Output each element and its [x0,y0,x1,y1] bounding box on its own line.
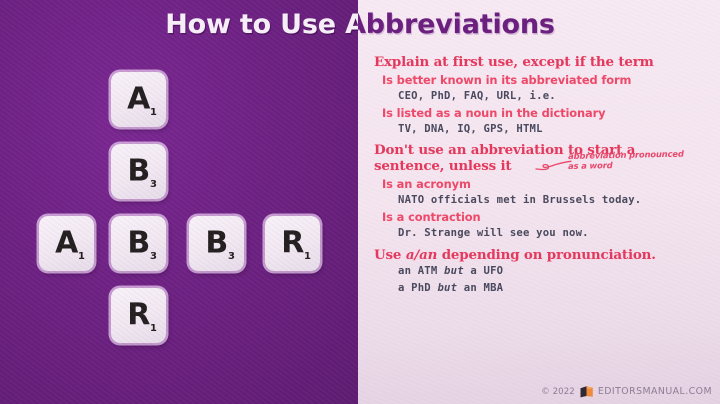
rule-heading: Use a/an depending on pronunciation. [374,247,714,264]
rule-example: CEO, PhD, FAQ, URL, i.e. [398,89,714,104]
rule-example: a PhD but an MBA [398,281,714,296]
infographic-root: A 1 B 3 A 1 B 3 B 3 R 1 [0,0,720,404]
tile-letter: A [111,84,166,114]
tile-letter: A [39,228,94,258]
example-post: an MBA [457,282,503,294]
rule-block: Don't use an abbreviation to start a sen… [368,142,714,241]
tile-points: 1 [150,324,157,334]
rule-subitem: Is listed as a noun in the dictionary [382,106,714,121]
rule-heading: Explain at first use, except if the term [374,54,714,71]
rule-heading-post: depending on pronunciation. [437,247,656,263]
right-content-panel: Explain at first use, except if the term… [358,0,720,404]
rule-block: Explain at first use, except if the term… [368,54,714,137]
rule-example: Dr. Strange will see you now. [398,226,714,241]
tile-letter: B [189,228,244,258]
left-purple-panel: A 1 B 3 A 1 B 3 B 3 R 1 [0,0,358,404]
tile-points: 3 [150,252,157,262]
tile-points: 1 [150,108,157,118]
rule-block: Use a/an depending on pronunciation. an … [368,247,714,297]
example-pre: an ATM [398,265,444,277]
tile-points: 1 [304,252,311,262]
scrabble-tile: A 1 [111,72,166,127]
scrabble-tile: R 1 [111,288,166,343]
rule-example: NATO officials met in Brussels today. [398,193,714,208]
scrabble-tile: A 1 [39,216,94,271]
footer-credit: © 2022 EDITORSMANUAL.COM [541,385,712,398]
rule-subitem: Is an acronym [382,177,714,192]
example-pre: a PhD [398,282,437,294]
scrabble-tile: R 1 [265,216,320,271]
rule-heading-pre: Use [374,247,406,263]
rule-example: TV, DNA, IQ, GPS, HTML [398,122,714,137]
tile-letter: R [265,228,320,258]
scrabble-tile: B 3 [111,144,166,199]
rule-example: an ATM but a UFO [398,264,714,279]
tile-letter: B [111,228,166,258]
tile-letter: R [111,300,166,330]
tile-points: 1 [78,252,85,262]
rule-subitem: Is a contraction [382,210,714,225]
rules-list: Explain at first use, except if the term… [358,54,720,372]
tile-letter: B [111,156,166,186]
scrabble-tile: B 3 [111,216,166,271]
example-emphasis: but [444,265,464,277]
book-logo-icon [579,385,594,398]
rule-subitem: Is better known in its abbreviated form [382,73,714,88]
tile-points: 3 [150,180,157,190]
rule-heading-line1: Don't use an abbreviation to start a [374,142,714,159]
scrabble-tile: B 3 [189,216,244,271]
site-name: EDITORSMANUAL.COM [598,386,712,397]
example-emphasis: but [437,282,457,294]
rule-heading-emphasis: a/an [406,247,437,263]
tile-points: 3 [228,252,235,262]
scrabble-board: A 1 B 3 A 1 B 3 B 3 R 1 [34,72,334,372]
copyright-text: © 2022 [541,387,575,397]
example-post: a UFO [464,265,503,277]
rule-heading-line2: sentence, unless it [374,158,714,175]
